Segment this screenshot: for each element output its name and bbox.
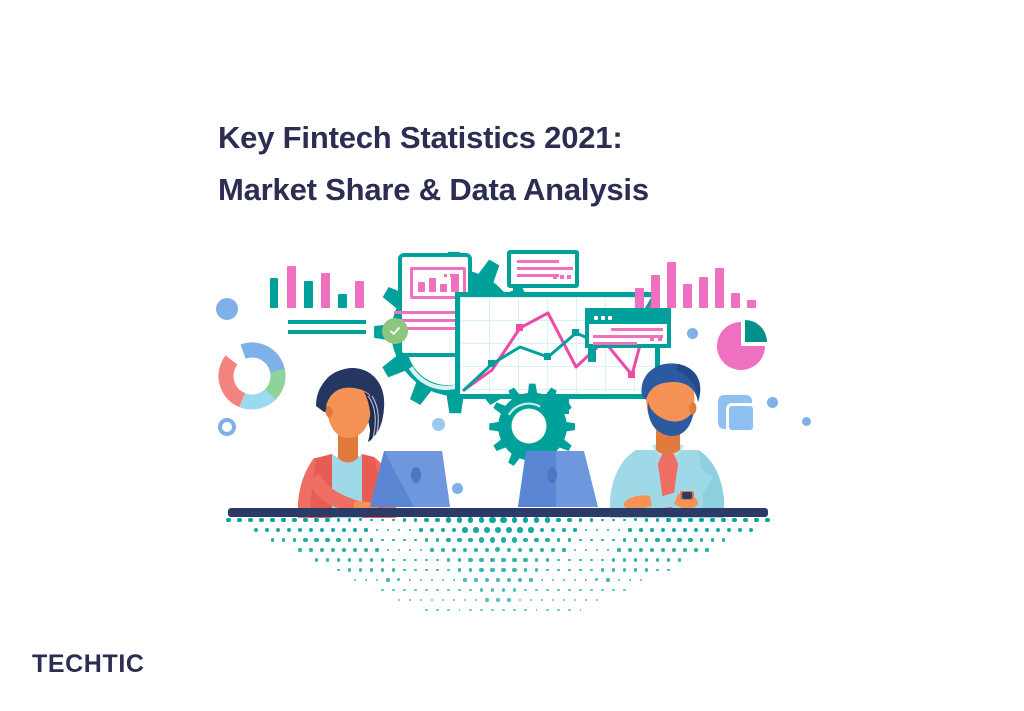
laptop-left	[368, 449, 450, 511]
speech-bubble	[507, 250, 579, 288]
decor-ring-blue-left	[218, 418, 236, 436]
bar-right-8	[747, 300, 756, 308]
mini-bar-3	[440, 284, 447, 292]
small-window	[585, 308, 671, 348]
page-title: Key Fintech Statistics 2021: Market Shar…	[218, 112, 778, 216]
bar-left-4	[321, 273, 330, 308]
decor-circle-blue-right-d	[802, 417, 811, 426]
small-window-dot-pink-2	[658, 337, 662, 341]
bubble-dot-3	[567, 275, 571, 279]
bar-right-1	[635, 288, 644, 308]
bar-chart-left	[270, 258, 354, 308]
check-badge-icon	[382, 318, 408, 344]
mini-bar-2	[429, 278, 436, 292]
desk-surface	[228, 508, 768, 517]
decor-circle-blue-right-a	[687, 328, 698, 339]
mini-panel-dot-1	[444, 274, 447, 277]
mini-bar-1	[418, 282, 425, 292]
small-window-dot-2	[601, 316, 605, 320]
decor-circle-blue-left	[216, 298, 238, 320]
bubble-text-line-2	[517, 267, 573, 270]
decor-circle-blue-under-gear	[452, 483, 463, 494]
check-icon	[388, 324, 402, 338]
techtic-logo: TECHTIC	[32, 650, 145, 679]
bar-right-4	[683, 284, 692, 308]
bubble-text-line-1	[517, 260, 559, 263]
bar-chart-right	[635, 256, 731, 308]
small-window-dot-pink-1	[650, 337, 654, 341]
halftone-fan	[228, 517, 768, 617]
small-window-dot-3	[608, 316, 612, 320]
bubble-dot-2	[560, 275, 564, 279]
laptop-right	[518, 449, 600, 511]
bar-left-1	[270, 278, 278, 308]
bar-left-5	[338, 294, 347, 308]
mini-bar-4	[451, 274, 459, 292]
fintech-analytics-illustration	[200, 240, 824, 620]
bar-right-3	[667, 262, 676, 308]
donut-chart	[218, 342, 286, 410]
small-window-line-3	[593, 342, 637, 345]
page-title-line-2: Market Share & Data Analysis	[218, 164, 778, 216]
page-title-line-1: Key Fintech Statistics 2021:	[218, 112, 778, 164]
bar-right-2	[651, 275, 660, 308]
man-figure	[592, 358, 742, 522]
bar-right-6	[715, 268, 724, 308]
bar-right-7	[731, 293, 740, 308]
bar-left-3	[304, 281, 313, 308]
decor-circle-blue-right-c	[767, 397, 778, 408]
bar-right-5	[699, 277, 708, 308]
poster-canvas: Key Fintech Statistics 2021: Market Shar…	[0, 0, 1024, 711]
bubble-dot-1	[553, 275, 557, 279]
small-window-line-1	[611, 328, 663, 331]
small-window-dot-1	[594, 316, 598, 320]
bar-left-2	[287, 266, 296, 308]
